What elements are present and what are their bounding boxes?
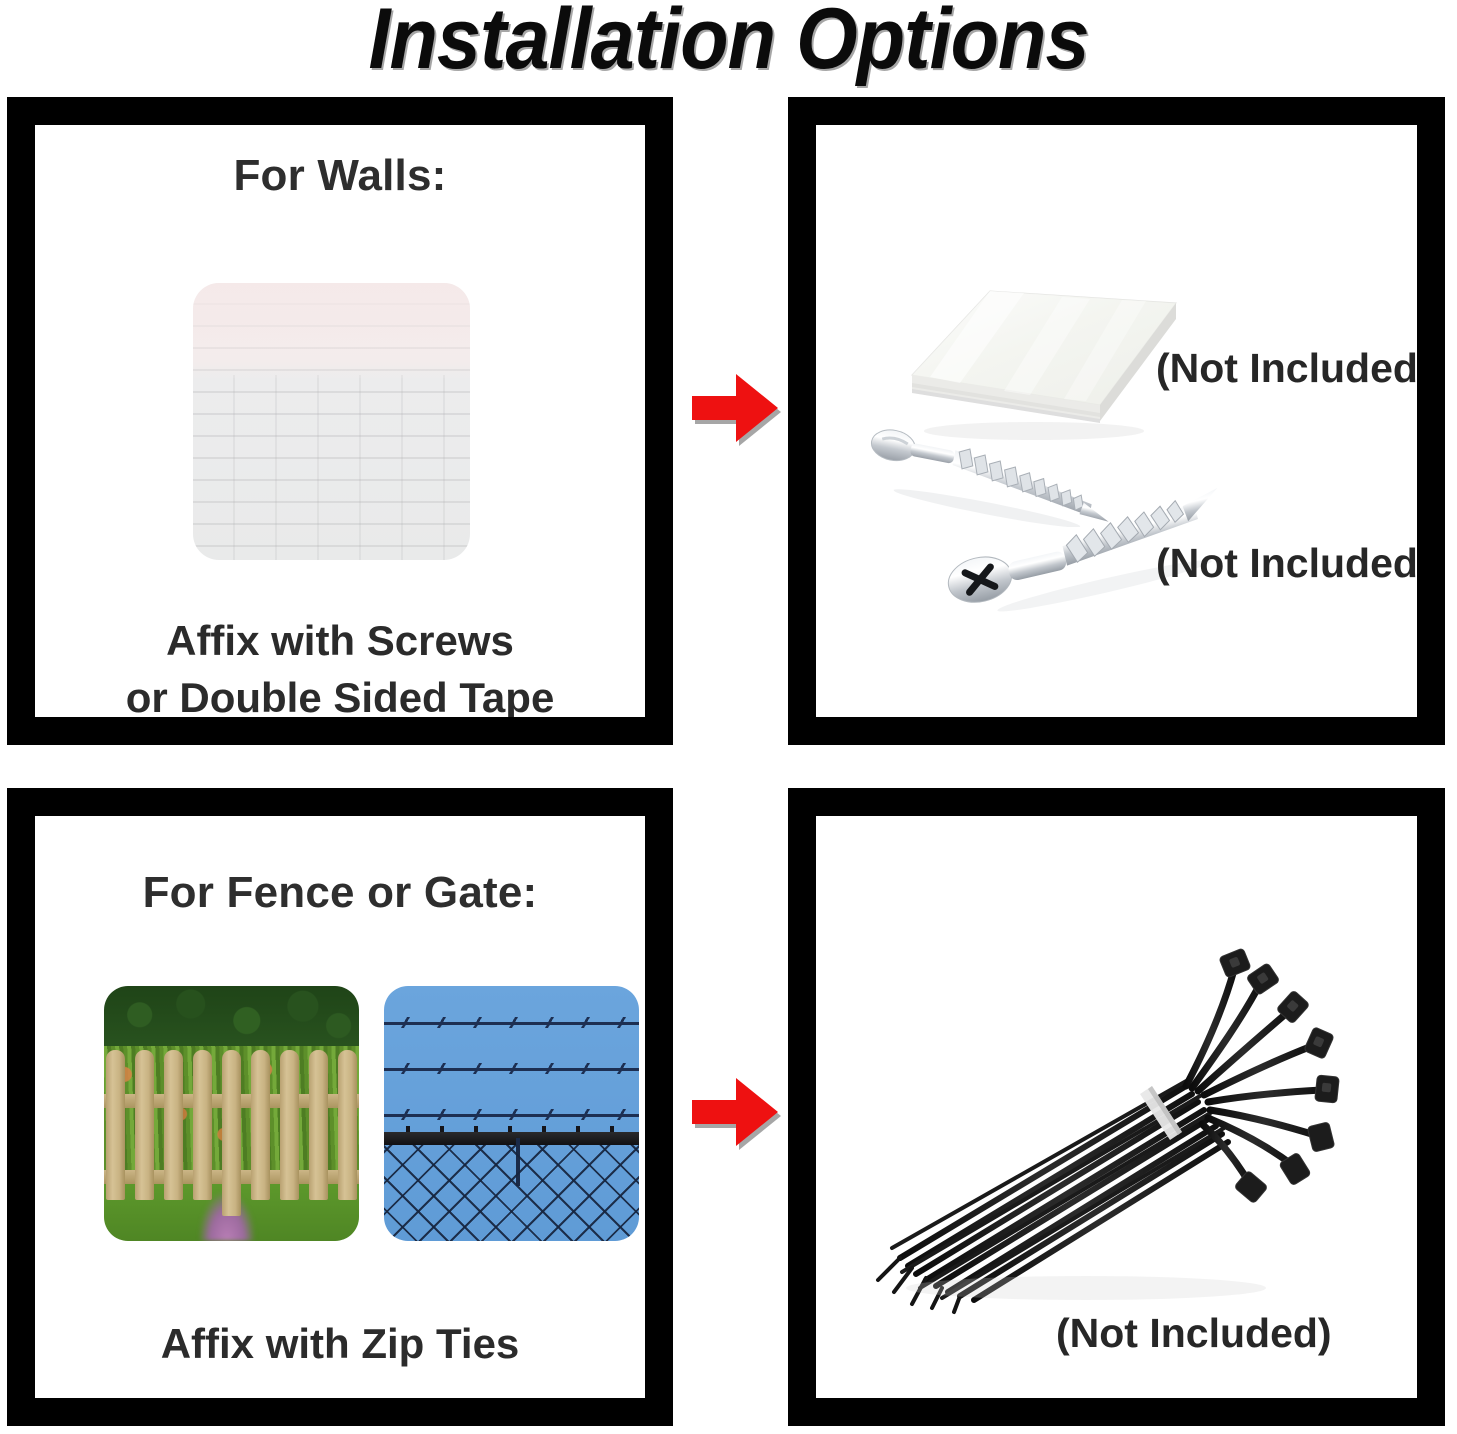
caption-line-1: Affix with Screws (35, 613, 645, 670)
zip-tie-bundle-image (856, 936, 1356, 1316)
zipties-not-included-label: (Not Included) (1056, 1310, 1332, 1357)
picket-group (104, 1042, 359, 1231)
wooden-fence-photo (104, 986, 359, 1241)
picket (222, 1050, 241, 1216)
picket (193, 1050, 212, 1200)
panel-heading-walls: For Walls: (35, 151, 645, 201)
panel-caption-fence: Affix with Zip Ties (35, 1316, 645, 1373)
picket (251, 1050, 270, 1200)
picket (106, 1050, 125, 1200)
barbs (384, 1063, 639, 1074)
page-title: Installation Options (58, 0, 1398, 84)
picket (280, 1050, 299, 1200)
picket (338, 1050, 357, 1200)
brick-top-tint (193, 283, 470, 378)
panel-heading-fence: For Fence or Gate: (35, 868, 645, 918)
caption-line-2: or Double Sided Tape (35, 670, 645, 717)
brick-seams (193, 375, 470, 560)
picket (135, 1050, 154, 1200)
wall-swatch-image (193, 283, 470, 560)
picket (309, 1050, 328, 1200)
tape-not-included-label: (Not Included) (1156, 345, 1417, 392)
panel-hardware: (Not Included) (788, 97, 1445, 745)
barbs (384, 1017, 639, 1028)
fence-top-rail (384, 1132, 639, 1145)
picket (164, 1050, 183, 1200)
chain-link-fence-photo (384, 986, 639, 1241)
screws-not-included-label: (Not Included) (1156, 540, 1417, 587)
panel-for-fence-or-gate: For Fence or Gate: (7, 788, 673, 1426)
chain-link-mesh (384, 1145, 639, 1241)
panel-for-walls: For Walls: Affix with Screws or Double S… (7, 97, 673, 745)
panel-zip-ties: (Not Included) (788, 788, 1445, 1426)
panel-caption-walls: Affix with Screws or Double Sided Tape (35, 613, 645, 717)
barbs (384, 1109, 639, 1120)
